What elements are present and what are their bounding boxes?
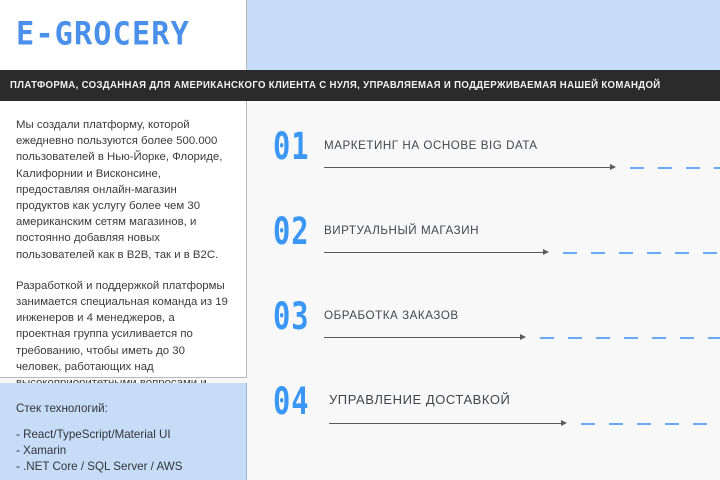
step-item: 02 ВИРТУАЛЬНЫЙ МАГАЗИН bbox=[247, 210, 720, 272]
step-rule bbox=[324, 163, 720, 173]
tech-stack-item: - .NET Core / SQL Server / AWS bbox=[16, 459, 232, 475]
description-paragraph-1: Мы создали платформу, которой ежедневно … bbox=[16, 117, 232, 263]
step-dashed-line bbox=[581, 423, 720, 425]
step-number: 02 bbox=[273, 210, 310, 254]
brand-logo: E-GROCERY bbox=[16, 16, 190, 53]
logo-panel: E-GROCERY bbox=[0, 0, 247, 70]
step-item: 03 ОБРАБОТКА ЗАКАЗОВ bbox=[247, 295, 720, 357]
step-number: 04 bbox=[273, 380, 310, 424]
description-panel: Мы создали платформу, которой ежедневно … bbox=[0, 101, 247, 378]
step-label: ВИРТУАЛЬНЫЙ МАГАЗИН bbox=[324, 224, 479, 237]
step-arrow-head-icon bbox=[520, 334, 526, 340]
headline-banner: ПЛАТФОРМА, СОЗДАННАЯ ДЛЯ АМЕРИКАНСКОГО К… bbox=[0, 70, 720, 101]
tech-stack-panel: Стек технологий: - React/TypeScript/Mate… bbox=[0, 383, 247, 480]
tech-stack-item: - Xamarin bbox=[16, 443, 232, 459]
step-label: МАРКЕТИНГ НА ОСНОВЕ BIG DATA bbox=[324, 139, 537, 152]
top-blue-panel bbox=[247, 0, 720, 70]
step-item: 04 УПРАВЛЕНИЕ ДОСТАВКОЙ bbox=[247, 380, 720, 442]
step-rule bbox=[324, 248, 720, 258]
steps-list: 01 МАРКЕТИНГ НА ОСНОВЕ BIG DATA 02 ВИРТУ… bbox=[247, 101, 720, 480]
step-arrow-line bbox=[329, 423, 564, 424]
slide-root: E-GROCERY ПЛАТФОРМА, СОЗДАННАЯ ДЛЯ АМЕРИ… bbox=[0, 0, 720, 480]
step-dashed-line bbox=[540, 337, 720, 339]
step-label: УПРАВЛЕНИЕ ДОСТАВКОЙ bbox=[329, 392, 510, 407]
headline-banner-text: ПЛАТФОРМА, СОЗДАННАЯ ДЛЯ АМЕРИКАНСКОГО К… bbox=[0, 80, 661, 91]
tech-stack-title: Стек технологий: bbox=[16, 401, 232, 416]
step-dashed-line bbox=[563, 252, 720, 254]
step-arrow-line bbox=[324, 167, 613, 168]
step-dashed-line bbox=[630, 167, 720, 169]
step-rule bbox=[324, 333, 720, 343]
tech-stack-item: - React/TypeScript/Material UI bbox=[16, 427, 232, 443]
step-arrow-head-icon bbox=[543, 249, 549, 255]
step-arrow-line bbox=[324, 252, 546, 253]
step-number: 03 bbox=[273, 295, 310, 339]
step-arrow-head-icon bbox=[610, 164, 616, 170]
step-number: 01 bbox=[273, 125, 310, 169]
step-item: 01 МАРКЕТИНГ НА ОСНОВЕ BIG DATA bbox=[247, 125, 720, 187]
step-arrow-head-icon bbox=[561, 420, 567, 426]
step-label: ОБРАБОТКА ЗАКАЗОВ bbox=[324, 309, 459, 322]
step-arrow-line bbox=[324, 337, 523, 338]
step-rule bbox=[329, 419, 720, 429]
